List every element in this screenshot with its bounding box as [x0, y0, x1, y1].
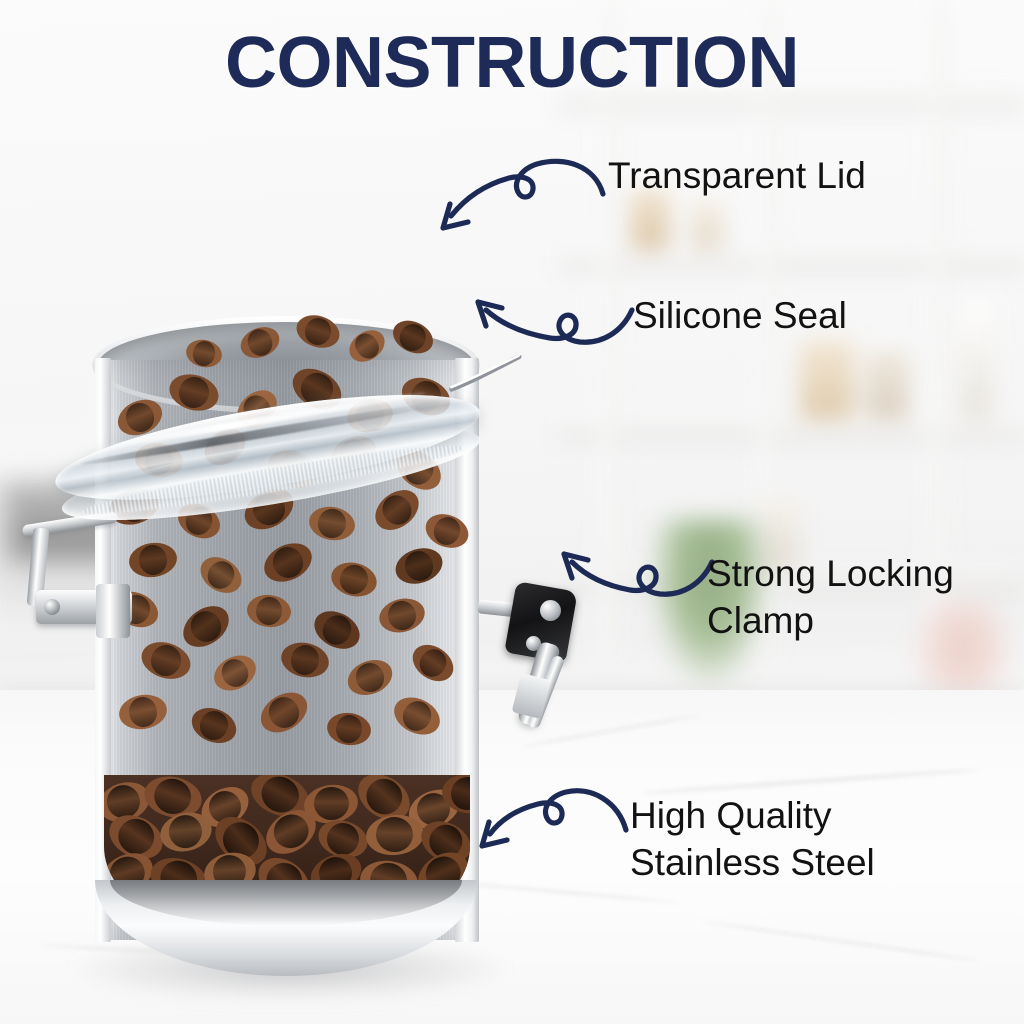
- arrow-high-quality-stainless-steel: [468, 778, 633, 858]
- infographic-canvas: CONSTRUCTION: [0, 0, 1024, 1024]
- callout-label-transparent-lid: Transparent Lid: [608, 152, 866, 199]
- callout-label-strong-locking-clamp: Strong Locking Clamp: [707, 550, 954, 644]
- lid-hinge-block: [96, 584, 130, 638]
- lid-hinge-pin: [44, 599, 60, 615]
- arrow-strong-locking-clamp: [560, 540, 720, 610]
- callout-label-silicone-seal: Silicone Seal: [633, 292, 847, 339]
- page-title: CONSTRUCTION: [0, 22, 1024, 104]
- clamp-rivet: [540, 600, 561, 621]
- arrow-transparent-lid: [425, 148, 610, 238]
- lid-tab: [446, 355, 528, 395]
- arrow-silicone-seal: [460, 288, 640, 358]
- callout-label-high-quality-stainless-steel: High Quality Stainless Steel: [630, 792, 875, 886]
